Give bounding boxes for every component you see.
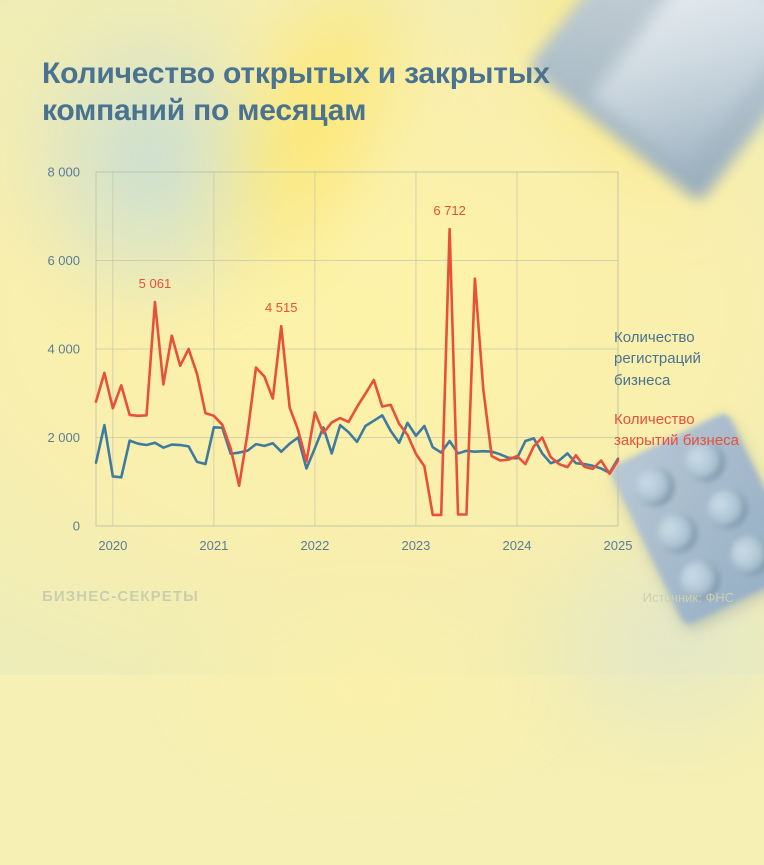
y-axis-tick-label: 6 000 (47, 253, 80, 268)
x-axis-tick-label: 2023 (401, 538, 430, 553)
y-axis-tick-label: 8 000 (47, 165, 80, 180)
x-axis-tick-label: 2024 (503, 538, 532, 553)
chart-annotations: 5 0614 5156 712 (139, 203, 466, 315)
x-axis-tick-label: 2022 (300, 538, 329, 553)
chart-y-axis-labels: 02 0004 0006 0008 000 (47, 165, 80, 534)
series-line-registrations (96, 415, 618, 477)
series-line-closures (96, 229, 618, 515)
chart-series-lines (96, 229, 618, 515)
legend-item-closures[interactable]: Количество закрытий бизнеса (614, 409, 754, 452)
x-axis-tick-label: 2020 (98, 538, 127, 553)
footer-brand: БИЗНЕС-СЕКРЕТЫ (42, 588, 199, 605)
y-axis-tick-label: 2 000 (47, 430, 80, 445)
x-axis-tick-label: 2021 (199, 538, 228, 553)
legend-item-registrations[interactable]: Количество регистраций бизнеса (614, 327, 754, 391)
data-label-annotation: 5 061 (139, 276, 172, 291)
chart-x-axis-labels: 202020212022202320242025 (98, 538, 632, 553)
x-axis-tick-label: 2025 (604, 538, 633, 553)
data-label-annotation: 6 712 (433, 203, 466, 218)
y-axis-tick-label: 0 (73, 519, 80, 534)
chart-legend: Количество регистраций бизнеса Количеств… (614, 327, 754, 469)
y-axis-tick-label: 4 000 (47, 342, 80, 357)
footer-source: Источник: ФНС (643, 590, 734, 605)
data-label-annotation: 4 515 (265, 300, 298, 315)
